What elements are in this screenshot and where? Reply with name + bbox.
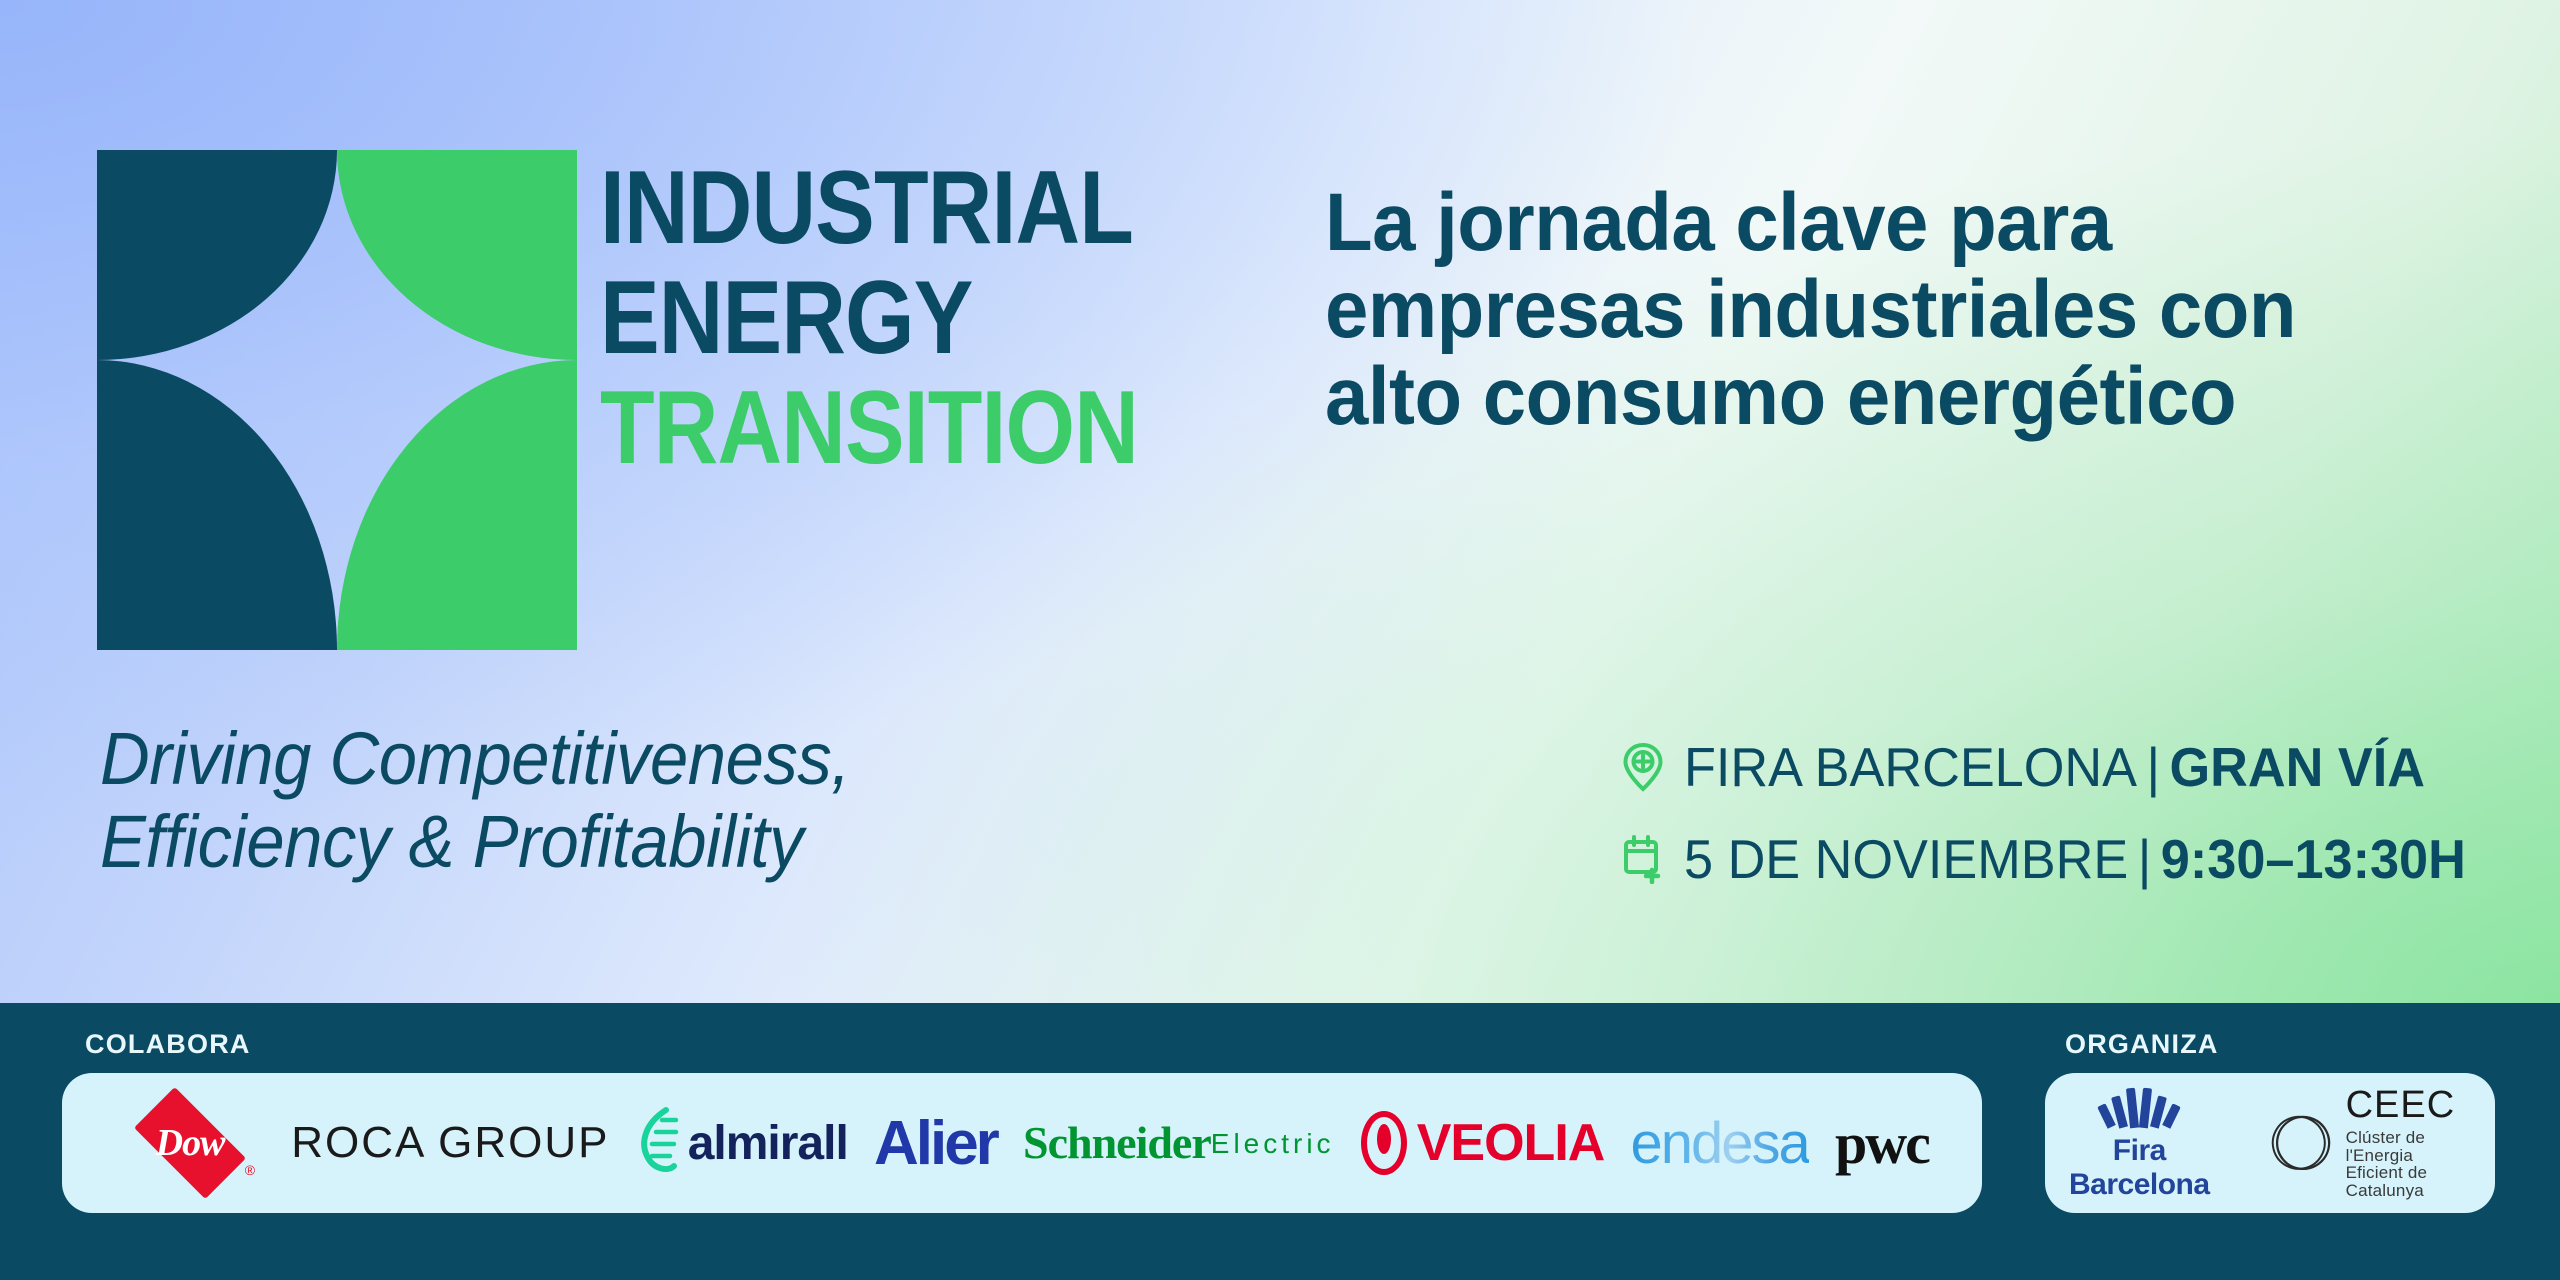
event-date-secondary: 9:30–13:30H — [2161, 828, 2466, 890]
alier-wordmark: Alier — [874, 1108, 997, 1179]
event-date-row: 5 DE NOVIEMBRE|9:30–13:30H — [1620, 827, 2520, 891]
dow-registered-mark: ® — [245, 1162, 255, 1178]
sponsor-logo-almirall[interactable]: almirall — [636, 1106, 848, 1181]
event-date-primary: 5 DE NOVIEMBRE — [1684, 828, 2128, 890]
logo-word-transition: TRANSITION — [600, 378, 1150, 480]
almirall-wordmark: almirall — [688, 1116, 848, 1171]
fira-barcelona-fan-icon — [2045, 1084, 2234, 1128]
schneider-electric-subtext: Electric — [1211, 1130, 1335, 1158]
almirall-leaf-icon — [636, 1106, 682, 1181]
sponsor-logo-alier[interactable]: Alier — [874, 1108, 997, 1179]
hero-section: INDUSTRIAL ENERGY TRANSITION Driving Com… — [0, 0, 2560, 1003]
organizer-logo-fira-barcelona[interactable]: Fira Barcelona — [2045, 1084, 2234, 1202]
logo-petal-top-left-icon — [97, 150, 337, 360]
event-location-separator: | — [2146, 736, 2160, 798]
event-date-text: 5 DE NOVIEMBRE|9:30–13:30H — [1684, 827, 2466, 891]
location-pin-plus-icon — [1620, 742, 1666, 792]
ceec-rings-icon — [2268, 1110, 2334, 1176]
sponsor-logo-pwc[interactable]: pwc — [1835, 1110, 1929, 1177]
ceec-text-block: CEEC Clúster de l'Energia Eficient de Ca… — [2346, 1086, 2495, 1200]
ceec-subtitle: Clúster de l'Energia Eficient de Catalun… — [2346, 1129, 2495, 1200]
event-location-row: FIRA BARCELONA|GRAN VÍA — [1620, 735, 2520, 799]
sponsor-logo-schneider-electric[interactable]: Schneider Electric — [1023, 1120, 1335, 1166]
ceec-wordmark: CEEC — [2346, 1084, 2456, 1126]
organiza-label: ORGANIZA — [2065, 1029, 2219, 1060]
roca-group-wordmark: ROCA GROUP — [291, 1118, 609, 1168]
sponsor-footer: COLABORA ORGANIZA Dow ® ROCA GROUP almir — [0, 1003, 2560, 1280]
organizer-logo-ceec[interactable]: CEEC Clúster de l'Energia Eficient de Ca… — [2268, 1086, 2495, 1200]
headline: La jornada clave para empresas industria… — [1325, 180, 2456, 441]
tagline: Driving Competitiveness, Efficiency & Pr… — [100, 718, 850, 884]
organiza-logo-card: Fira Barcelona CEEC Clúster de l'Energia… — [2045, 1073, 2495, 1213]
logo-petal-bottom-left-icon — [97, 360, 337, 650]
pwc-bars-icon — [1895, 1092, 1933, 1110]
logo-petal-bottom-right-icon — [337, 360, 577, 650]
fira-barcelona-wordmark: Fira Barcelona — [2045, 1134, 2234, 1202]
colabora-label: COLABORA — [85, 1029, 251, 1060]
event-location-primary: FIRA BARCELONA — [1684, 736, 2137, 798]
schneider-wordmark: Schneider — [1023, 1120, 1211, 1166]
sponsor-logo-roca-group[interactable]: ROCA GROUP — [291, 1118, 609, 1168]
logo-word-industrial: INDUSTRIAL — [600, 158, 1150, 260]
logo-petal-top-right-icon — [337, 150, 577, 360]
sponsor-logo-veolia[interactable]: VEOLIA — [1361, 1111, 1605, 1175]
event-location-text: FIRA BARCELONA|GRAN VÍA — [1684, 735, 2425, 799]
event-meta: FIRA BARCELONA|GRAN VÍA 5 DE NOVIEMBRE|9… — [1620, 735, 2520, 919]
endesa-wordmark: endesa — [1630, 1110, 1808, 1177]
logo-word-energy: ENERGY — [600, 268, 1150, 370]
veolia-flame-icon — [1361, 1111, 1407, 1175]
event-location-secondary: GRAN VÍA — [2170, 736, 2425, 798]
pwc-wordmark: pwc — [1835, 1110, 1929, 1177]
event-date-separator: | — [2138, 828, 2152, 890]
sponsor-logo-dow[interactable]: Dow ® — [115, 1098, 265, 1188]
industrial-energy-transition-logo-mark — [97, 150, 577, 650]
logo-wordmark: INDUSTRIAL ENERGY TRANSITION — [600, 158, 1240, 480]
sponsor-logo-endesa[interactable]: endesa — [1630, 1110, 1808, 1177]
event-banner: INDUSTRIAL ENERGY TRANSITION Driving Com… — [0, 0, 2560, 1280]
dow-wordmark: Dow — [156, 1121, 225, 1165]
veolia-wordmark: VEOLIA — [1417, 1113, 1605, 1173]
colabora-logo-card: Dow ® ROCA GROUP almirall Alier Sc — [62, 1073, 1982, 1213]
calendar-plus-icon — [1620, 834, 1666, 884]
